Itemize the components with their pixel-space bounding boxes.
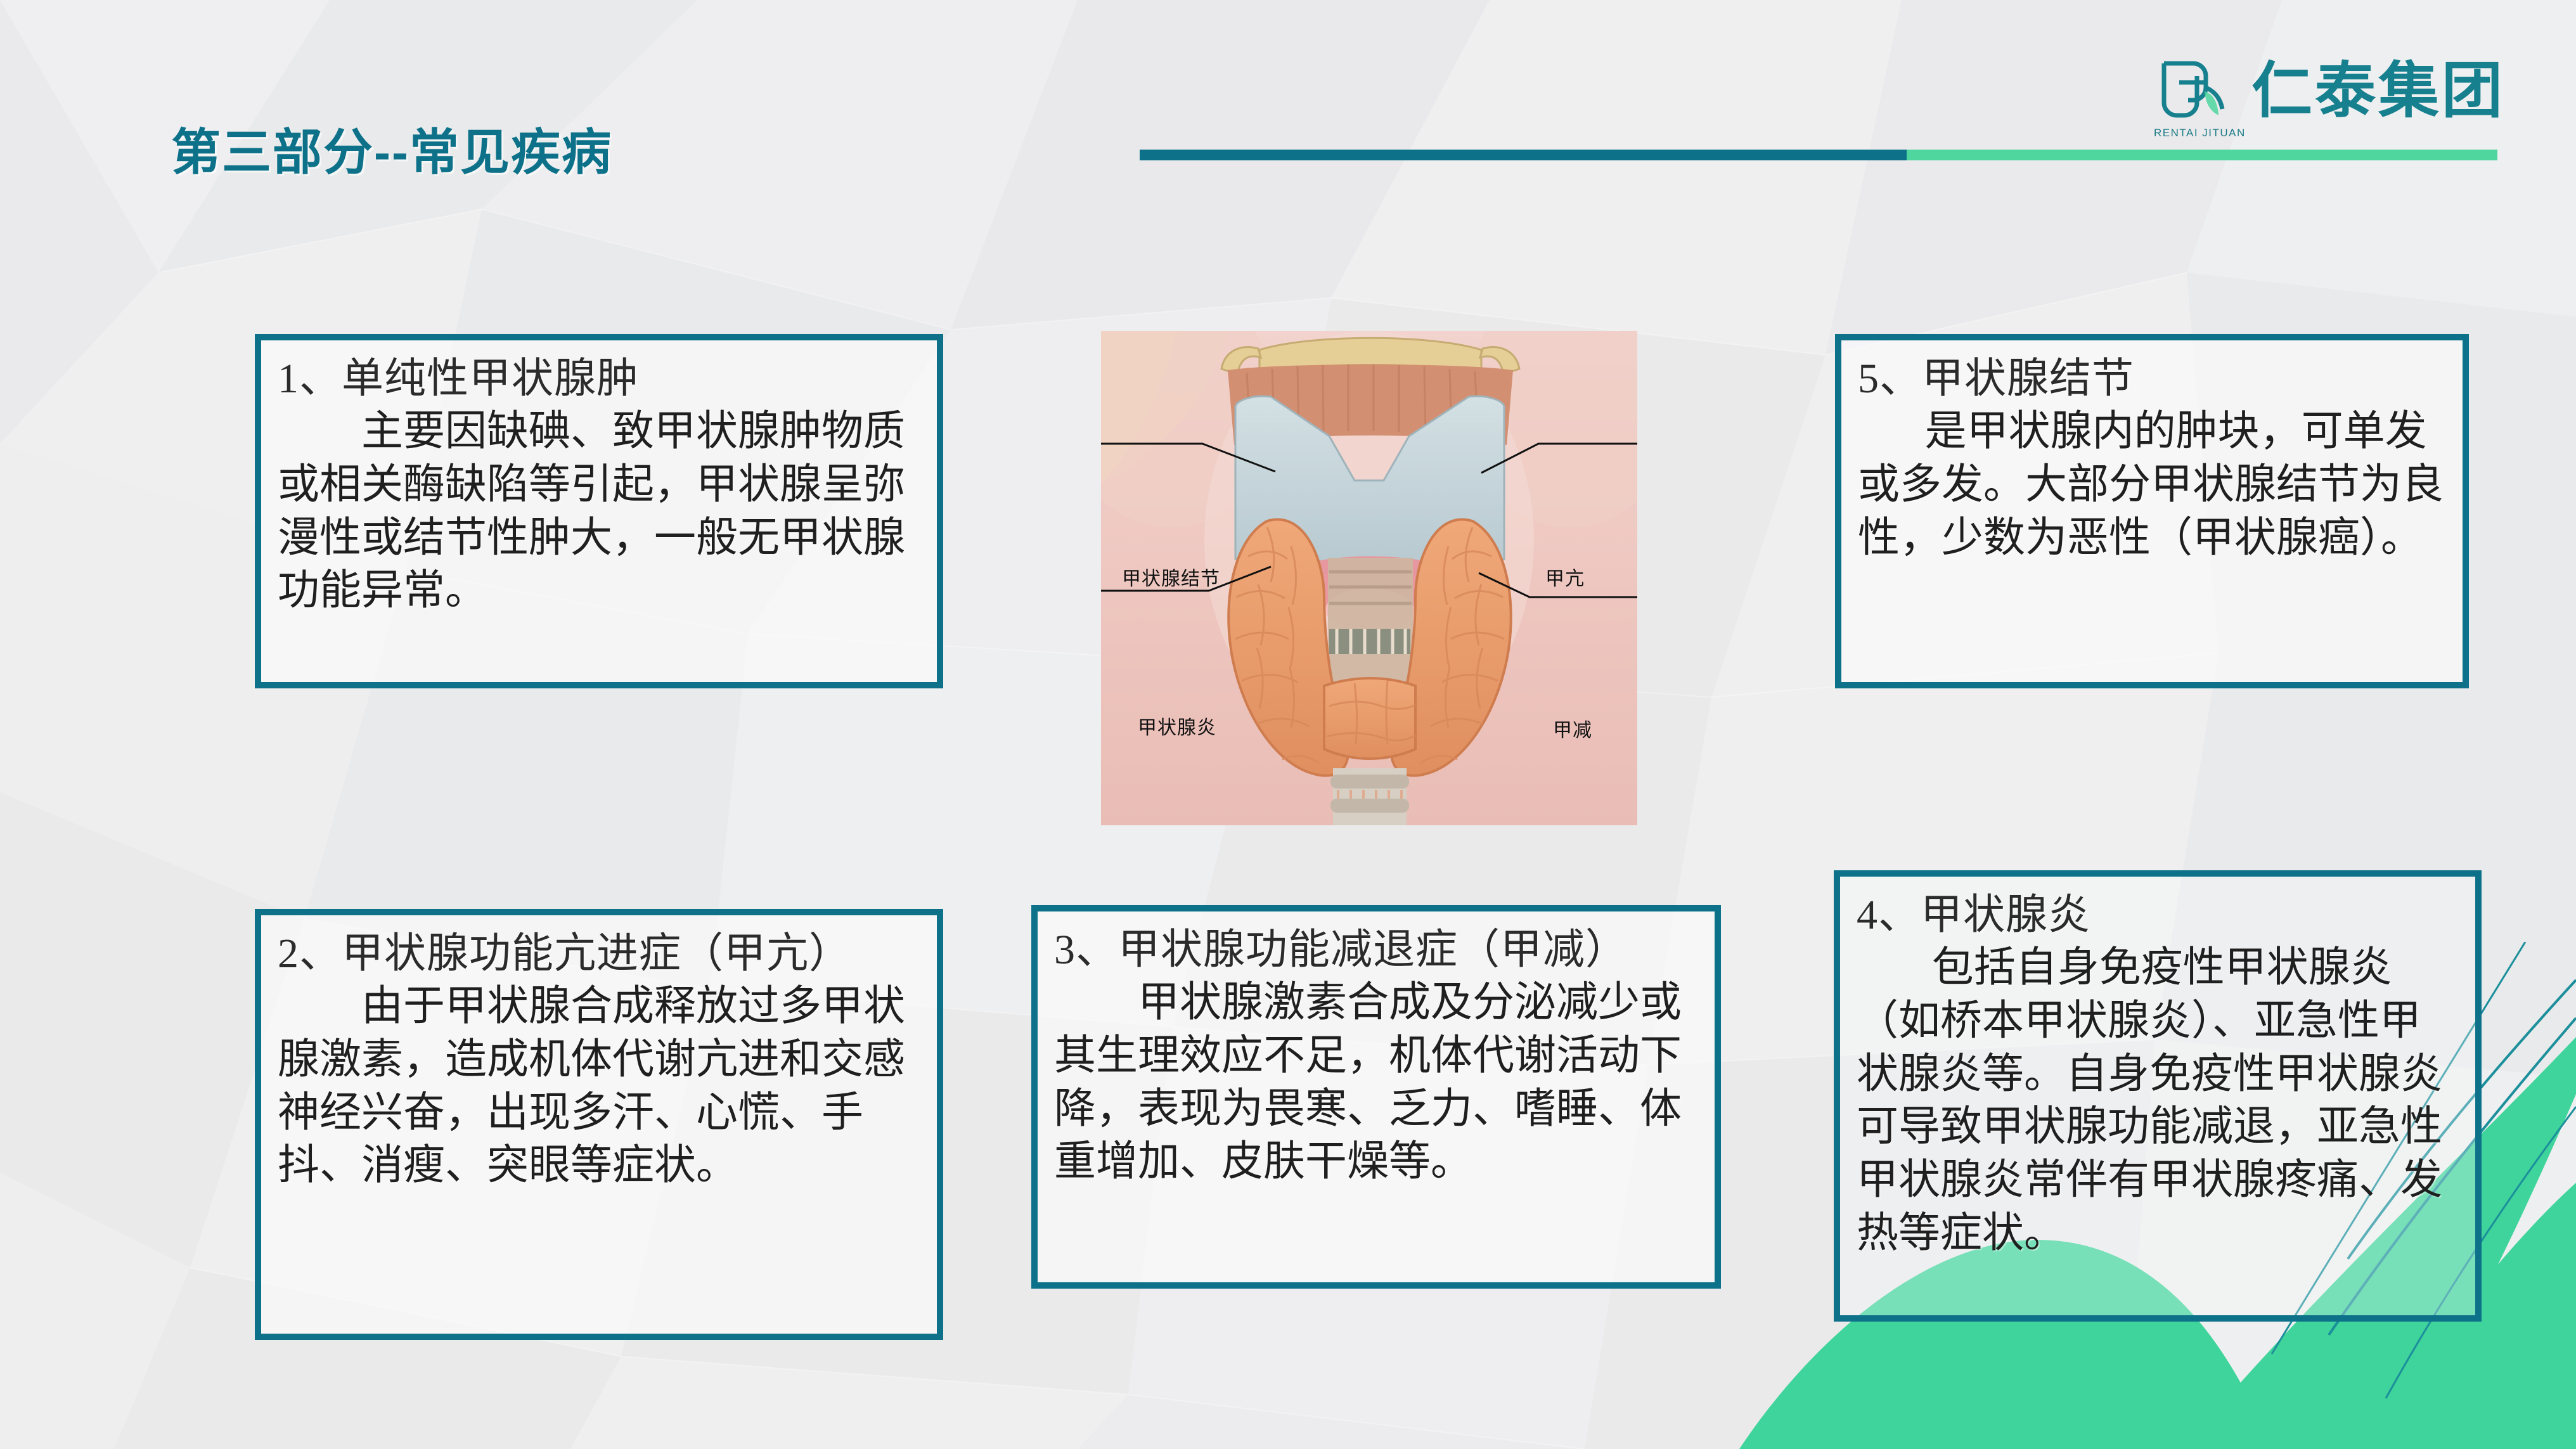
figure-label-hyperthyroidism: 甲亢 bbox=[1545, 563, 1585, 591]
card-body: 由于甲状腺合成释放过多甲状腺激素，造成机体代谢亢进和交感神经兴奋，出现多汗、心慌… bbox=[278, 980, 920, 1192]
card-heading: 2、甲状腺功能亢进症（甲亢） bbox=[278, 929, 920, 979]
brand-logo: RENTAI JITUAN 仁泰集团 bbox=[2153, 47, 2505, 136]
slide-canvas: 第三部分--常见疾病 RENTAI JITUAN 仁泰集团 bbox=[0, 0, 2576, 1449]
card-heading: 3、甲状腺功能减退症（甲减） bbox=[1054, 925, 1698, 975]
logo-wordmark: 仁泰集团 bbox=[2251, 61, 2505, 122]
figure-label-hypothyroidism: 甲减 bbox=[1553, 714, 1592, 742]
card-heading: 4、甲状腺炎 bbox=[1857, 891, 2459, 940]
figure-label-thyroiditis: 甲状腺炎 bbox=[1138, 712, 1216, 740]
rentai-monogram-icon: RENTAI JITUAN bbox=[2153, 47, 2235, 136]
card-body: 主要因缺碘、致甲状腺肿物质或相关酶缺陷等引起，甲状腺呈弥漫性或结节性肿大，一般无… bbox=[278, 405, 920, 617]
card-body: 甲状腺激素合成及分泌减少或其生理效应不足，机体代谢活动下降，表现为畏寒、乏力、嗜… bbox=[1054, 976, 1698, 1188]
disease-card-hyperthyroidism: 2、甲状腺功能亢进症（甲亢） 由于甲状腺合成释放过多甲状腺激素，造成机体代谢亢进… bbox=[255, 909, 943, 1340]
disease-card-thyroid-nodule: 5、甲状腺结节 是甲状腺内的肿块，可单发或多发。大部分甲状腺结节为良性，少数为恶… bbox=[1835, 334, 2469, 688]
figure-label-nodule: 甲状腺结节 bbox=[1122, 563, 1220, 591]
card-heading: 1、单纯性甲状腺肿 bbox=[278, 354, 920, 404]
disease-card-thyroiditis: 4、甲状腺炎 包括自身免疫性甲状腺炎（如桥本甲状腺炎）、亚急性甲状腺炎等。自身免… bbox=[1834, 870, 2482, 1322]
card-body: 是甲状腺内的肿块，可单发或多发。大部分甲状腺结节为良性，少数为恶性（甲状腺癌）。 bbox=[1858, 405, 2446, 564]
header-divider bbox=[1140, 150, 2497, 160]
disease-card-simple-goiter: 1、单纯性甲状腺肿 主要因缺碘、致甲状腺肿物质或相关酶缺陷等引起，甲状腺呈弥漫性… bbox=[255, 334, 943, 688]
page-title: 第三部分--常见疾病 bbox=[171, 113, 612, 184]
card-heading: 5、甲状腺结节 bbox=[1858, 354, 2446, 404]
logo-pinyin: RENTAI JITUAN bbox=[2154, 127, 2246, 139]
card-body: 包括自身免疫性甲状腺炎（如桥本甲状腺炎）、亚急性甲状腺炎等。自身免疫性甲状腺炎可… bbox=[1857, 941, 2459, 1260]
disease-card-hypothyroidism: 3、甲状腺功能减退症（甲减） 甲状腺激素合成及分泌减少或其生理效应不足，机体代谢… bbox=[1031, 905, 1721, 1289]
